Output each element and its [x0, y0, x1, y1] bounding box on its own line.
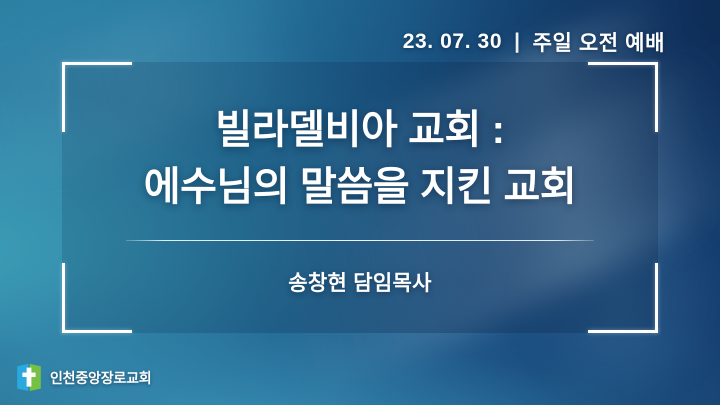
sermon-title-line-2: 에수님의 말씀을 지킨 교회: [144, 159, 577, 216]
sermon-title-line-1: 빌라델비아 교회 :: [144, 102, 577, 159]
church-door-cross-icon: [16, 363, 42, 393]
church-name: 인천중앙장로교회: [50, 368, 151, 388]
service-date: 23. 07. 30: [403, 30, 502, 54]
church-logo: 인천중앙장로교회: [16, 363, 151, 393]
sermon-title-slide: 23. 07. 30 | 주일 오전 예배 빌라델비아 교회 : 에수님의 말씀…: [0, 0, 720, 405]
title-block: 빌라델비아 교회 : 에수님의 말씀을 지킨 교회 송창현 담임목사: [62, 62, 658, 333]
sermon-title: 빌라델비아 교회 : 에수님의 말씀을 지킨 교회: [144, 98, 577, 216]
service-date-line: 23. 07. 30 | 주일 오전 예배: [403, 27, 665, 57]
service-separator: |: [513, 30, 521, 54]
title-divider: [126, 240, 594, 241]
speaker-name: 송창현 담임목사: [288, 267, 431, 297]
service-name: 주일 오전 예배: [533, 27, 665, 57]
